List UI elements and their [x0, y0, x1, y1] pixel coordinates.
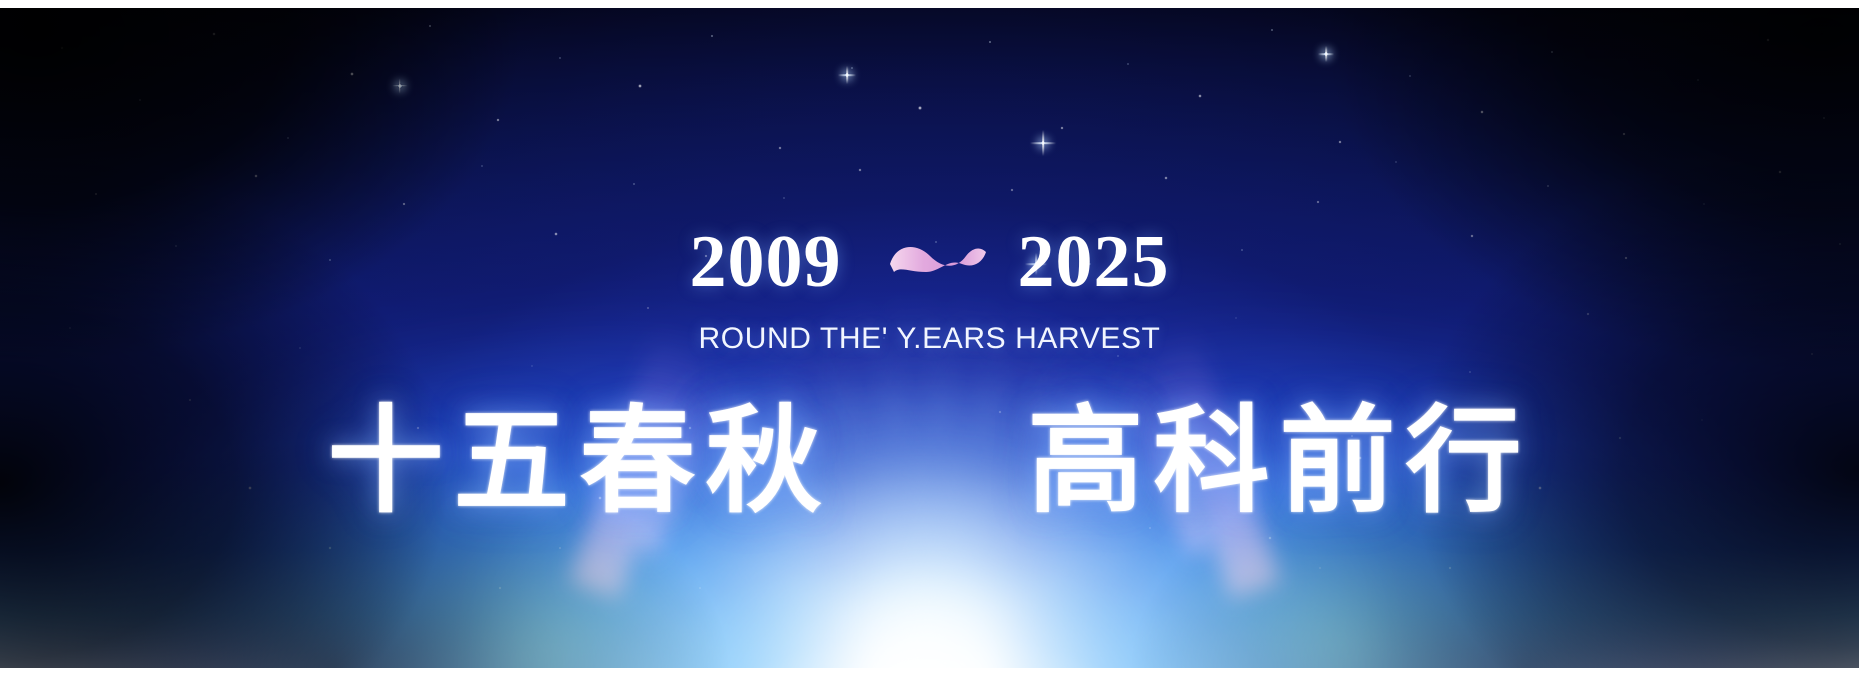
headline-left-phrase: 十五春秋 — [328, 398, 832, 526]
top-white-strip — [0, 0, 1859, 8]
banner-content: 2009 2025 ROUND THE' Y.EARS HA — [0, 0, 1859, 680]
headline-row: 十五春秋 高科前行 — [0, 398, 1859, 526]
end-year: 2025 — [1018, 225, 1170, 299]
wave-tilde-icon — [886, 234, 990, 290]
anniversary-banner: 2009 2025 ROUND THE' Y.EARS HA — [0, 0, 1859, 680]
start-year: 2009 — [690, 225, 842, 299]
year-range: 2009 2025 — [0, 225, 1859, 299]
bottom-white-strip — [0, 668, 1859, 680]
banner-subtitle: ROUND THE' Y.EARS HARVEST — [0, 322, 1859, 356]
headline-right-phrase: 高科前行 — [1028, 398, 1532, 526]
